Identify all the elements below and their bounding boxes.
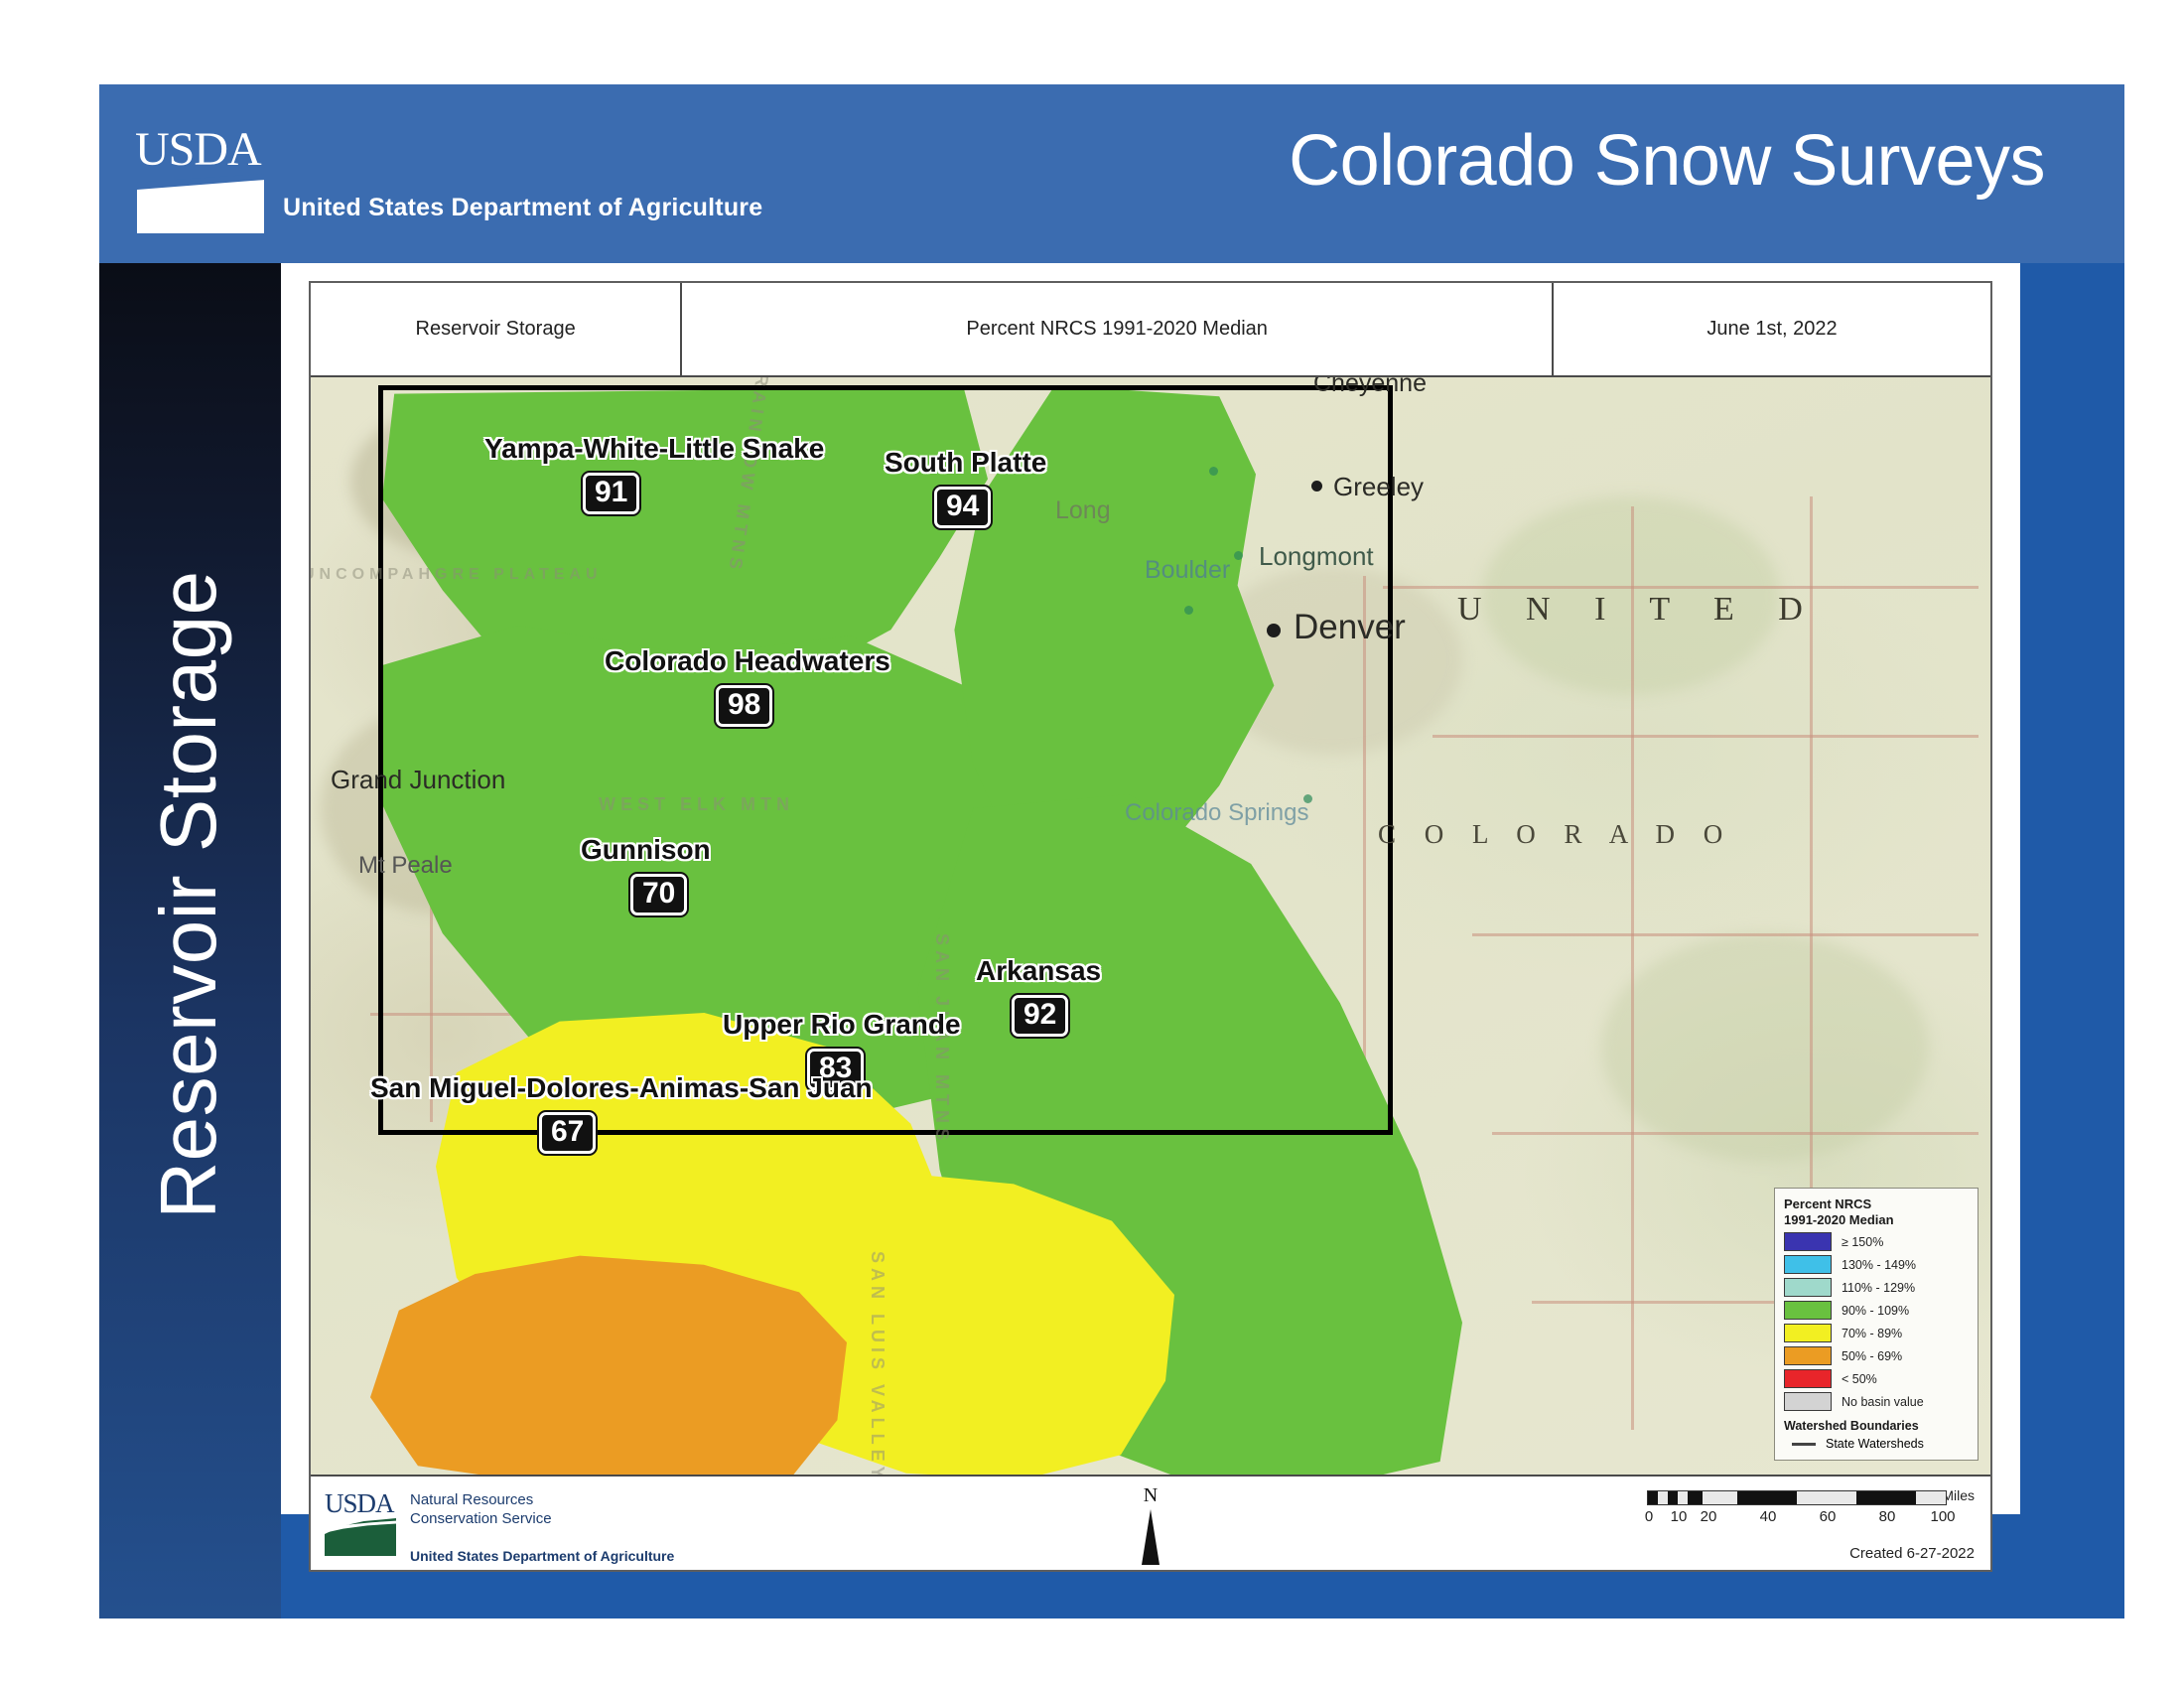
legend-swatch	[1784, 1392, 1832, 1411]
legend-row: 110% - 129%	[1784, 1278, 1969, 1297]
slide-header: USDA United States Department of Agricul…	[99, 84, 2124, 263]
scale-tick: 100	[1930, 1508, 1955, 1525]
city-dot-small	[1184, 606, 1193, 615]
map-title-center: Percent NRCS 1991-2020 Median	[680, 283, 1554, 375]
legend-row: < 50%	[1784, 1369, 1969, 1388]
basin-label-arkansas: Arkansas	[976, 955, 1101, 987]
scale-tick: 10	[1671, 1508, 1688, 1525]
terrain-blob	[1601, 933, 1929, 1162]
basin-label-san-miguel: San Miguel-Dolores-Animas-San Juan	[370, 1072, 873, 1104]
city-label-longmont: Longmont	[1259, 541, 1374, 572]
basin-label-gunnison: Gunnison	[581, 834, 711, 866]
legend-row-watershed: State Watersheds	[1784, 1437, 1969, 1451]
nrcs-logo: USDA	[325, 1489, 396, 1557]
city-label-mt-peale: Mt Peale	[358, 852, 453, 880]
nrcs-line2: Conservation Service	[410, 1509, 674, 1528]
side-rail: Reservoir Storage	[99, 263, 281, 1618]
legend-boundaries-title: Watershed Boundaries	[1784, 1419, 1969, 1433]
created-date: Created 6-27-2022	[1849, 1545, 1975, 1562]
city-label-boulder: Boulder	[1145, 556, 1230, 585]
legend-label: 90% - 109%	[1842, 1304, 1909, 1318]
basin-label-upper-rio-grande: Upper Rio Grande	[723, 1009, 961, 1041]
legend-row: 90% - 109%	[1784, 1301, 1969, 1320]
scale-tick: 60	[1820, 1508, 1837, 1525]
basin-value-colorado-headwaters: 98	[716, 685, 772, 727]
basin-fill	[370, 1251, 847, 1475]
basin-value-arkansas: 92	[1012, 995, 1068, 1037]
legend-title-line1: Percent NRCS	[1784, 1196, 1969, 1212]
city-label-grand-junction: Grand Junction	[331, 765, 505, 795]
page-title: Colorado Snow Surveys	[1289, 120, 2045, 202]
nrcs-line3: United States Department of Agriculture	[410, 1548, 674, 1564]
state-label: C O L O R A D O	[1378, 819, 1733, 850]
scale-tick: 80	[1879, 1508, 1896, 1525]
basin-label-yampa: Yampa-White-Little Snake	[484, 433, 824, 465]
city-dot-small	[1303, 794, 1312, 803]
legend-label: ≥ 150%	[1842, 1235, 1883, 1249]
usda-logo-text: USDA	[135, 124, 269, 176]
map-canvas[interactable]: Cheyenne Greeley Longmont Boulder Denver…	[311, 377, 1990, 1475]
scale-seg	[1737, 1491, 1797, 1504]
north-label: N	[1142, 1484, 1160, 1507]
map-legend: Percent NRCS 1991-2020 Median ≥ 150% 130…	[1774, 1188, 1979, 1462]
scale-bar: Miles 0 10 20 40 60 80 100	[1647, 1490, 1975, 1530]
city-label-cheyenne: Cheyenne	[1313, 377, 1427, 398]
city-dot-greeley	[1311, 481, 1322, 492]
legend-row: 130% - 149%	[1784, 1255, 1969, 1274]
usda-agency-label: United States Department of Agriculture	[283, 194, 762, 222]
map-title-left: Reservoir Storage	[311, 283, 680, 375]
map-title-right: June 1st, 2022	[1554, 283, 1990, 375]
city-dot-denver	[1267, 624, 1281, 637]
legend-label: State Watersheds	[1826, 1437, 1924, 1451]
road-line	[1631, 506, 1634, 1430]
scale-seg	[1856, 1491, 1916, 1504]
city-dot-small	[1234, 551, 1243, 560]
nrcs-agency-block: Natural Resources Conservation Service U…	[410, 1490, 674, 1564]
legend-row: No basin value	[1784, 1392, 1969, 1411]
basin-value-gunnison: 70	[630, 874, 687, 915]
city-label-denver: Denver	[1294, 608, 1406, 647]
map-title-strip: Reservoir Storage Percent NRCS 1991-2020…	[311, 283, 1990, 377]
legend-line-symbol	[1792, 1443, 1816, 1446]
north-arrow: N	[1142, 1484, 1160, 1565]
country-label: U N I T E D	[1457, 591, 1821, 629]
scale-tick: 20	[1701, 1508, 1717, 1525]
basin-label-south-platte: South Platte	[885, 447, 1046, 479]
slide-root: USDA United States Department of Agricul…	[0, 0, 2184, 1688]
legend-title-line2: 1991-2020 Median	[1784, 1212, 1969, 1228]
legend-swatch	[1784, 1278, 1832, 1297]
basin-value-yampa: 91	[583, 473, 639, 514]
range-label-west-elk: WEST ELK MTN	[599, 794, 794, 815]
legend-label: 50% - 69%	[1842, 1349, 1902, 1363]
road-line	[1472, 933, 1979, 936]
usda-logo: USDA	[135, 124, 269, 233]
city-label-greeley: Greeley	[1333, 472, 1424, 502]
legend-row: 50% - 69%	[1784, 1346, 1969, 1365]
legend-swatch	[1784, 1301, 1832, 1320]
road-line	[1433, 735, 1979, 738]
legend-swatch	[1784, 1324, 1832, 1342]
legend-swatch	[1784, 1255, 1832, 1274]
legend-label: No basin value	[1842, 1395, 1924, 1409]
road-line	[1492, 1132, 1979, 1135]
scale-seg	[1668, 1491, 1678, 1504]
map-footer: USDA Natural Resources Conservation Serv…	[311, 1475, 1990, 1570]
range-label-uncompahgre: UNCOMPAHGRE PLATEAU	[311, 566, 603, 584]
city-label-colorado-springs: Colorado Springs	[1125, 799, 1308, 827]
basin-value-san-miguel: 67	[539, 1112, 596, 1154]
legend-swatch	[1784, 1369, 1832, 1388]
city-label-long: Long	[1055, 496, 1111, 525]
scale-bar-ticks: 0 10 20 40 60 80 100	[1647, 1508, 1975, 1530]
city-dot-small	[1209, 467, 1218, 476]
scale-bar-track	[1647, 1490, 1947, 1505]
side-rail-caption: Reservoir Storage	[143, 249, 234, 1540]
legend-row: ≥ 150%	[1784, 1232, 1969, 1251]
scale-seg	[1648, 1491, 1658, 1504]
legend-label: 70% - 89%	[1842, 1327, 1902, 1340]
scale-seg	[1688, 1491, 1703, 1504]
scale-unit-label: Miles	[1942, 1487, 1975, 1503]
nrcs-line1: Natural Resources	[410, 1490, 674, 1509]
legend-label: 110% - 129%	[1842, 1281, 1915, 1295]
basin-value-south-platte: 94	[934, 487, 991, 528]
legend-label: 130% - 149%	[1842, 1258, 1916, 1272]
road-line	[1383, 586, 1979, 589]
legend-label: < 50%	[1842, 1372, 1877, 1386]
legend-swatch	[1784, 1232, 1832, 1251]
basin-label-colorado-headwaters: Colorado Headwaters	[605, 645, 890, 677]
legend-swatch	[1784, 1346, 1832, 1365]
basin-san-miguel-dolores-animas-san-juan[interactable]	[370, 1251, 847, 1475]
scale-tick: 40	[1760, 1508, 1777, 1525]
north-arrow-icon	[1142, 1509, 1160, 1565]
legend-row: 70% - 89%	[1784, 1324, 1969, 1342]
range-label-san-luis: SAN LUIS VALLEY	[867, 1251, 887, 1475]
map-document: Reservoir Storage Percent NRCS 1991-2020…	[309, 281, 1992, 1572]
nrcs-logo-text: USDA	[325, 1489, 394, 1517]
scale-tick: 0	[1645, 1508, 1653, 1525]
